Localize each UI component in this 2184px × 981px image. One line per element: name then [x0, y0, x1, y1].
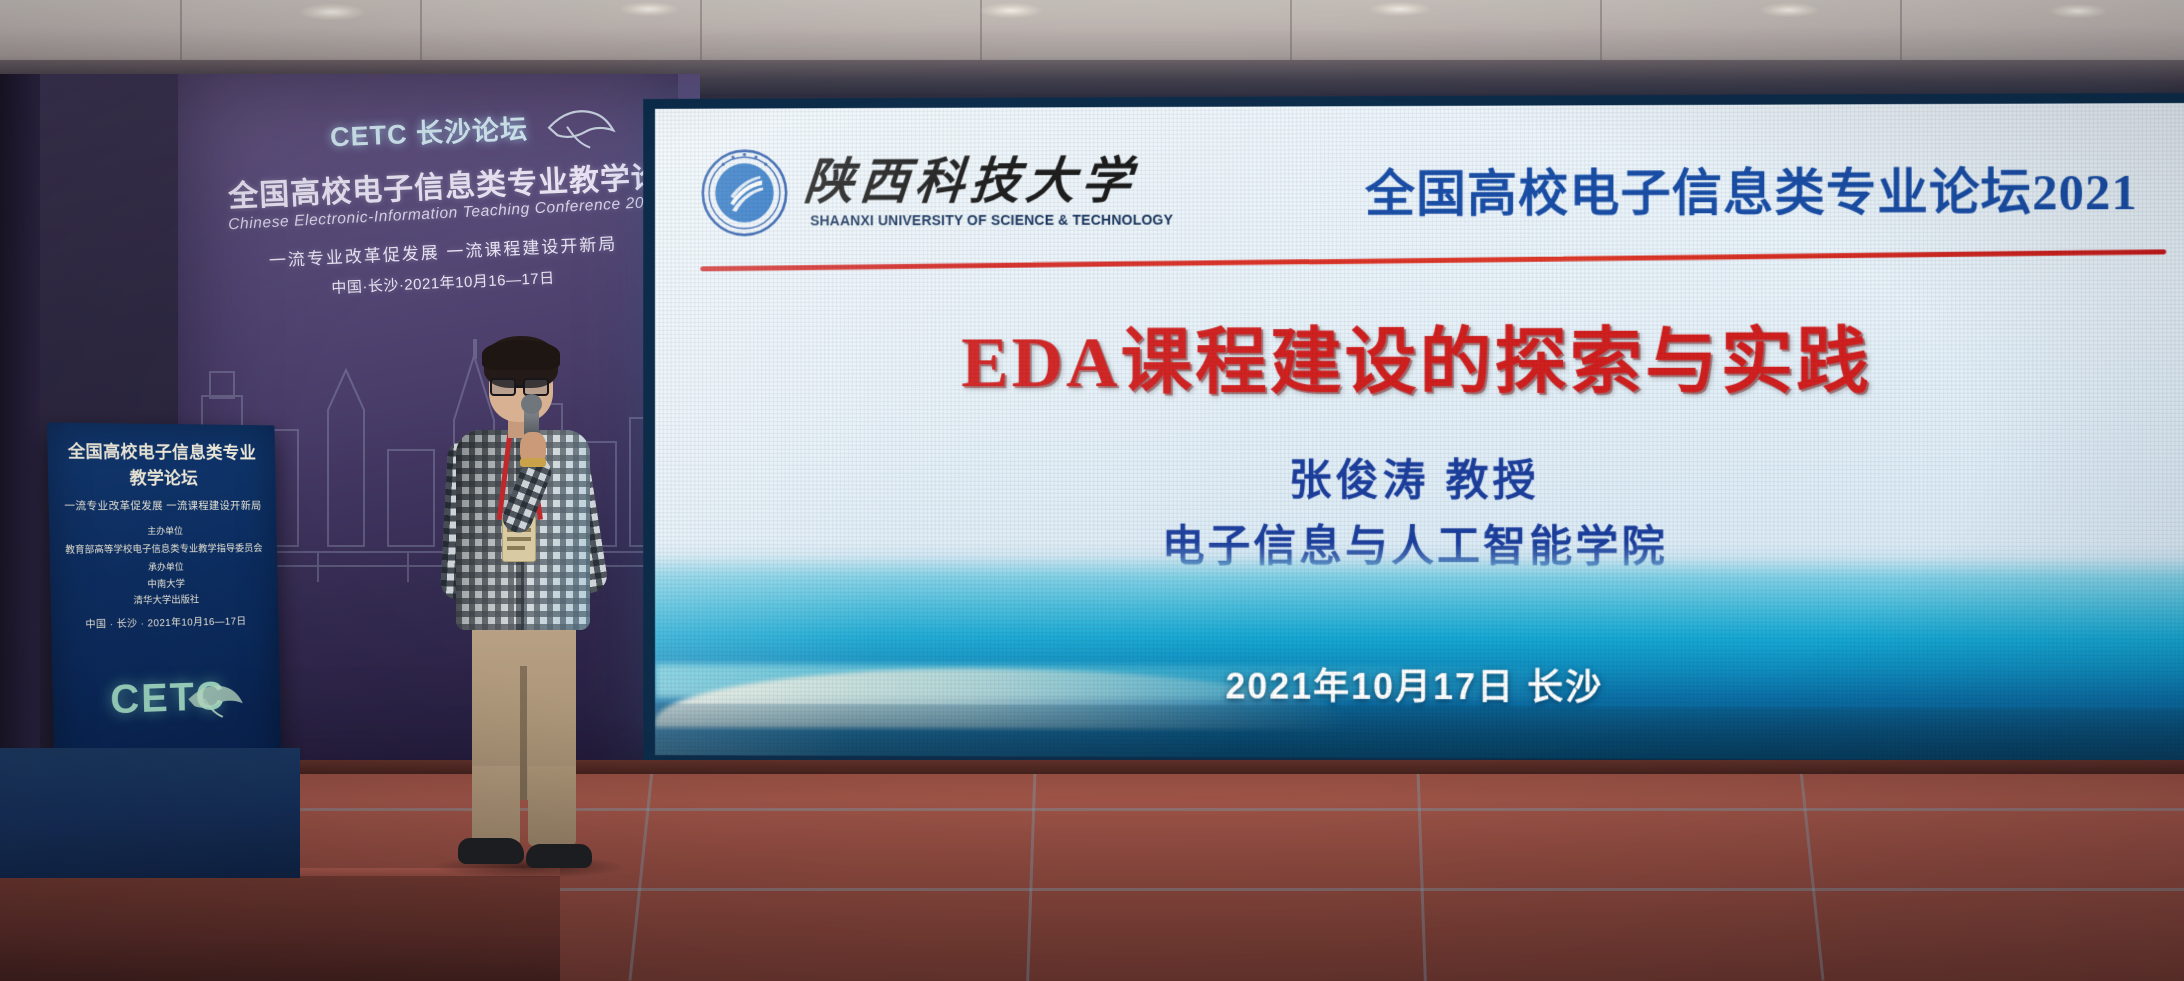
- slide-ocean-image: [655, 542, 2184, 761]
- presenter-hair-top: [482, 340, 560, 370]
- presenter-trouser-seam: [520, 666, 527, 800]
- ceiling-light-icon: [980, 3, 1042, 18]
- university-name-en: SHAANXI UNIVERSITY OF SCIENCE & TECHNOLO…: [810, 213, 1173, 230]
- glasses-lens-left-icon: [490, 378, 516, 396]
- slide-date-location: 2021年10月17日 长沙: [655, 656, 2184, 712]
- sign-organizer-1: 中南大学: [50, 575, 278, 592]
- sign-crane-bird-icon: [185, 672, 246, 726]
- ocean-deep-water: [655, 704, 2184, 761]
- presenter-leg-left: [472, 766, 520, 846]
- wristwatch-icon: [520, 458, 546, 467]
- stage-skirt: [0, 748, 300, 878]
- slide-divider-rule: [700, 249, 2166, 271]
- slide-main-title: EDA课程建设的探索与实践: [655, 301, 2184, 407]
- presentation-slide: 陕西科技大学 SHAANXI UNIVERSITY OF SCIENCE & T…: [655, 103, 2184, 761]
- conference-photo-scene: CETC 长沙论坛 全国高校电子信息类专业教学论坛(2021) Chinese …: [0, 0, 2184, 981]
- left-wall-edge: [0, 74, 40, 774]
- ceiling-light-icon: [620, 2, 678, 16]
- presenter-badge-line: [507, 537, 531, 541]
- sign-organizer-2: 清华大学出版社: [51, 590, 279, 608]
- sign-slogan: 一流专业改革促发展 一流课程建设开新局: [48, 498, 276, 513]
- ceiling-light-icon: [1370, 2, 1430, 16]
- sign-title-line1: 全国高校电子信息类专业: [47, 437, 275, 464]
- led-screen-frame: 陕西科技大学 SHAANXI UNIVERSITY OF SCIENCE & T…: [643, 93, 2184, 771]
- crane-bird-icon: [543, 94, 618, 158]
- sign-title-line2: 教学论坛: [48, 463, 276, 489]
- presenter-shoe-left: [458, 838, 524, 864]
- stage-riser: [0, 876, 560, 981]
- sign-host-label: 主办单位: [49, 524, 277, 538]
- university-name-cn: 陕西科技大学: [802, 155, 1181, 209]
- university-seal-icon: [700, 148, 789, 238]
- presenter-shoe-right: [526, 844, 592, 868]
- slide-speaker-name: 张俊涛 教授: [655, 446, 2184, 509]
- ceiling-light-icon: [300, 4, 364, 20]
- sign-host-name: 教育部高等学校电子信息类专业教学指导委员会: [49, 540, 277, 556]
- ceiling-light-icon: [2050, 4, 2106, 18]
- university-name-block: 陕西科技大学 SHAANXI UNIVERSITY OF SCIENCE & T…: [805, 155, 1179, 230]
- glasses-bridge-icon: [515, 385, 525, 388]
- glasses-lens-right-icon: [523, 378, 549, 396]
- sign-date-place: 中国 · 长沙 · 2021年10月16—17日: [51, 612, 279, 632]
- slide-forum-title: 全国高校电子信息类专业论坛2021: [1365, 152, 2138, 226]
- presenter-badge-line: [507, 546, 525, 550]
- sign-organizer-label: 承办单位: [50, 559, 278, 575]
- presenter-leg-right: [528, 766, 576, 846]
- ceiling-light-icon: [1760, 3, 1818, 17]
- sign-logo-text: CETC: [52, 673, 280, 726]
- presenter-figure: [428, 336, 618, 876]
- stage-front-edge: [0, 760, 2184, 774]
- microphone-head-icon: [521, 394, 542, 414]
